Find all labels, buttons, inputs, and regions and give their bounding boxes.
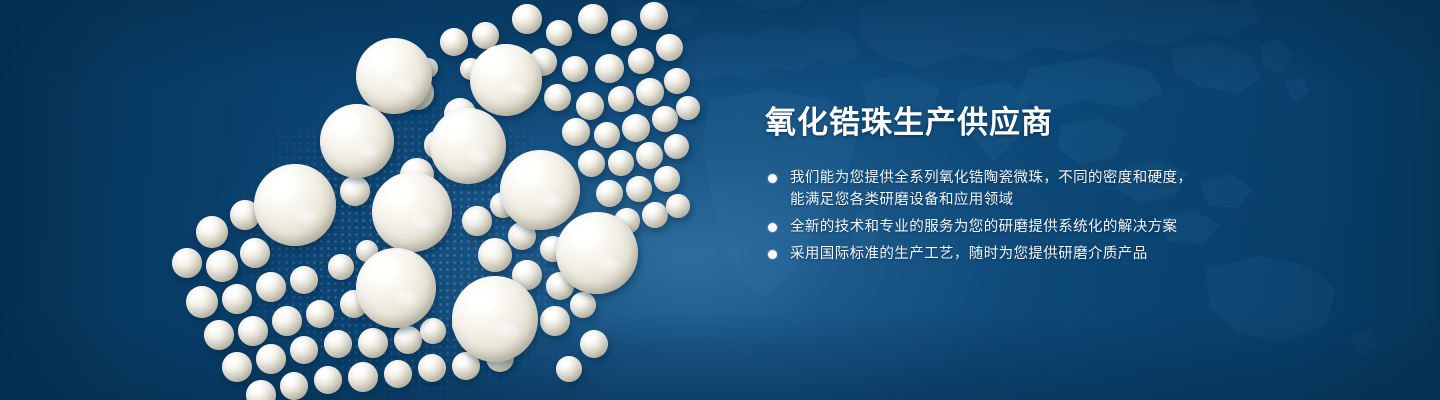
bullet-dot-icon xyxy=(768,223,777,232)
bullet-line: 采用国际标准的生产工艺，随时为您提供研磨介质产品 xyxy=(790,243,1365,265)
bullet-line: 能满足您各类研磨设备和应用领域 xyxy=(790,189,1365,211)
banner-copy-block: 氧化锆珠生产供应商 我们能为您提供全系列氧化锆陶瓷微珠，不同的密度和硬度， 能满… xyxy=(765,104,1365,265)
bullet-line: 我们能为您提供全系列氧化锆陶瓷微珠，不同的密度和硬度， xyxy=(790,167,1365,189)
list-item: 采用国际标准的生产工艺，随时为您提供研磨介质产品 xyxy=(765,243,1365,265)
hero-banner: 氧化锆珠生产供应商 我们能为您提供全系列氧化锆陶瓷微珠，不同的密度和硬度， 能满… xyxy=(0,0,1440,400)
page-title: 氧化锆珠生产供应商 xyxy=(765,104,1365,142)
list-item: 全新的技术和专业的服务为您的研磨提供系统化的解决方案 xyxy=(765,216,1365,238)
bullet-dot-icon xyxy=(768,174,777,183)
list-item: 我们能为您提供全系列氧化锆陶瓷微珠，不同的密度和硬度， 能满足您各类研磨设备和应… xyxy=(765,167,1365,211)
feature-bullet-list: 我们能为您提供全系列氧化锆陶瓷微珠，不同的密度和硬度， 能满足您各类研磨设备和应… xyxy=(765,167,1365,265)
bullet-dot-icon xyxy=(768,250,777,259)
bullet-line: 全新的技术和专业的服务为您的研磨提供系统化的解决方案 xyxy=(790,216,1365,238)
